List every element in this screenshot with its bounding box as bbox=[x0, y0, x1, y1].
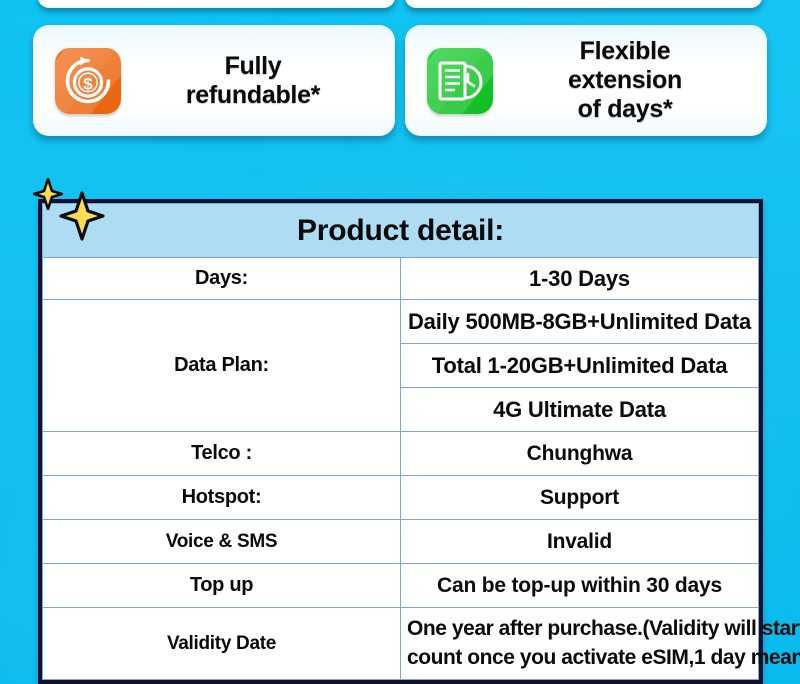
feature-label-line1: Fully bbox=[127, 52, 379, 81]
table-row-data-plan-1: Data Plan: Daily 500MB-8GB+Unlimited Dat… bbox=[43, 300, 759, 344]
row-value-days: 1-30 Days bbox=[401, 258, 759, 300]
table-row-telco: Telco : Chunghwa bbox=[43, 432, 759, 476]
row-label-validity-date: Validity Date bbox=[43, 608, 401, 680]
feature-card-label: Flexible extension of days* bbox=[493, 37, 757, 124]
row-label-voice-sms: Voice & SMS bbox=[43, 520, 401, 564]
table-row-top-up: Top up Can be top-up within 30 days bbox=[43, 564, 759, 608]
row-label-telco: Telco : bbox=[43, 432, 401, 476]
feature-card-refundable[interactable]: $ Fully refundable* bbox=[33, 25, 395, 136]
validity-line-1: One year after purchase.(Validity will s… bbox=[407, 615, 754, 643]
table-row-days: Days: 1-30 Days bbox=[43, 258, 759, 300]
row-value-telco: Chunghwa bbox=[401, 432, 759, 476]
svg-text:$: $ bbox=[83, 74, 93, 93]
table-row-validity-date: Validity Date One year after purchase.(V… bbox=[43, 608, 759, 680]
row-value-data-plan-daily: Daily 500MB-8GB+Unlimited Data bbox=[401, 300, 759, 344]
row-value-hotspot: Support bbox=[401, 476, 759, 520]
feature-cards-row: $ Fully refundable* bbox=[0, 25, 800, 136]
row-label-top-up: Top up bbox=[43, 564, 401, 608]
feature-label-line3: of days* bbox=[499, 95, 751, 124]
table-row-hotspot: Hotspot: Support bbox=[43, 476, 759, 520]
row-value-data-plan-total: Total 1-20GB+Unlimited Data bbox=[401, 344, 759, 388]
row-label-hotspot: Hotspot: bbox=[43, 476, 401, 520]
row-value-voice-sms: Invalid bbox=[401, 520, 759, 564]
refund-money-icon: $ bbox=[55, 48, 121, 114]
feature-label-line1: Flexible bbox=[499, 37, 751, 66]
partial-card-right bbox=[405, 0, 762, 8]
row-value-top-up: Can be top-up within 30 days bbox=[401, 564, 759, 608]
feature-label-line2: refundable* bbox=[127, 81, 379, 110]
product-detail-table: Product detail: Days: 1-30 Days Data Pla… bbox=[38, 199, 763, 684]
feature-card-extension[interactable]: Flexible extension of days* bbox=[405, 25, 767, 136]
table-row-voice-sms: Voice & SMS Invalid bbox=[43, 520, 759, 564]
row-value-data-plan-speed: 4G Ultimate Data bbox=[401, 388, 759, 432]
row-label-data-plan: Data Plan: bbox=[43, 300, 401, 432]
validity-line-2: count once you activate eSIM,1 day means… bbox=[407, 644, 754, 672]
feature-card-label: Fully refundable* bbox=[121, 52, 385, 110]
partial-cards-row bbox=[0, 0, 800, 8]
calendar-extension-icon bbox=[427, 48, 493, 114]
product-detail-header: Product detail: bbox=[43, 204, 759, 258]
row-label-days: Days: bbox=[43, 258, 401, 300]
table-header-row: Product detail: bbox=[43, 204, 759, 258]
partial-card-left bbox=[38, 0, 395, 8]
row-value-validity-date: One year after purchase.(Validity will s… bbox=[401, 608, 759, 680]
feature-label-line2: extension bbox=[499, 66, 751, 95]
